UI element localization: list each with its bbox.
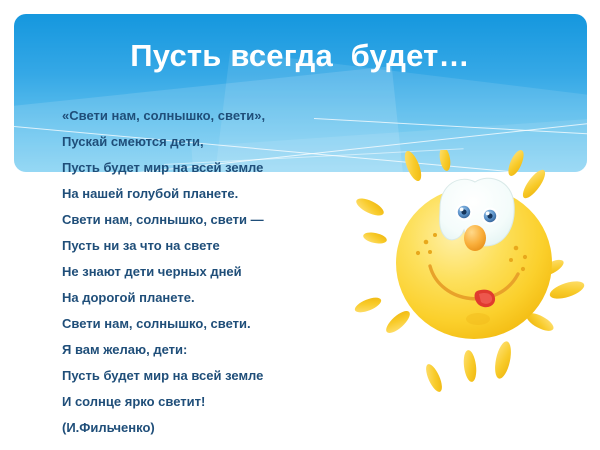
poem-line: Не знают дети черных дней [62,259,362,285]
poem-line: Я вам желаю, дети: [62,337,362,363]
poem-author: (И.Фильченко) [62,415,362,441]
poem-line: Свети нам, солнышко, свети — [62,207,362,233]
sun-nose [464,225,486,251]
sun-illustration [348,150,598,415]
poem-line: На дорогой планете. [62,285,362,311]
poem-line: И солнце ярко светит! [62,389,362,415]
poem-line: «Свети нам, солнышко, свети», [62,103,362,129]
sun-chin-dimple [466,313,490,325]
poem-line: Пусть будет мир на всей земле [62,363,362,389]
poem-body: «Свети нам, солнышко, свети», Пускай сме… [62,103,362,441]
poem-line: Свети нам, солнышко, свети. [62,311,362,337]
poem-line: Пусть ни за что на свете [62,233,362,259]
slide-canvas: Пусть всегда будет… «Свети нам, солнышко… [0,0,600,450]
poem-line: Пускай смеются дети, [62,129,362,155]
page-title: Пусть всегда будет… [0,38,600,74]
poem-line: На нашей голубой планете. [62,181,362,207]
poem-line: Пусть будет мир на всей земле [62,155,362,181]
